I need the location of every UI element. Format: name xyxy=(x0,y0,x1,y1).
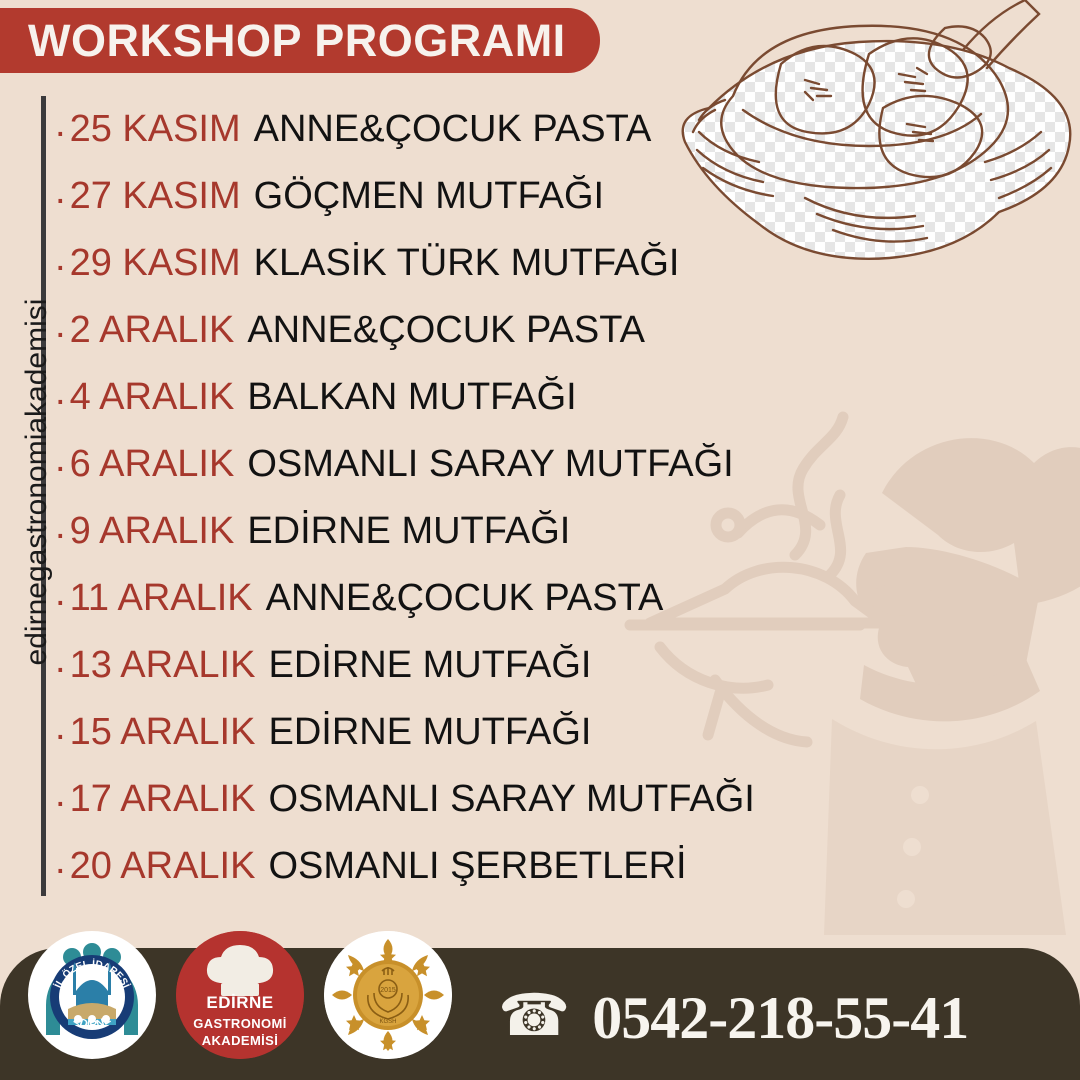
program-date: 11 ARALIK xyxy=(70,577,253,620)
bullet-dot: . xyxy=(55,708,66,746)
program-title: ANNE&ÇOCUK PASTA xyxy=(266,577,664,620)
svg-text:KGSH: KGSH xyxy=(379,1019,396,1025)
program-row: . 9 ARALIK EDİRNE MUTFAĞI xyxy=(55,498,875,565)
program-title: KLASİK TÜRK MUTFAĞI xyxy=(254,242,680,285)
bullet-dot: . xyxy=(55,641,66,679)
program-row: . 13 ARALIK EDİRNE MUTFAĞI xyxy=(55,632,875,699)
program-list: . 25 KASIM ANNE&ÇOCUK PASTA . 27 KASIM G… xyxy=(55,96,875,900)
program-date: 6 ARALIK xyxy=(70,443,235,486)
program-date: 27 KASIM xyxy=(70,175,241,218)
program-date: 29 KASIM xyxy=(70,242,241,285)
program-title: OSMANLI SARAY MUTFAĞI xyxy=(247,443,733,486)
program-date: 25 KASIM xyxy=(70,108,241,151)
program-date: 2 ARALIK xyxy=(70,309,235,352)
bullet-dot: . xyxy=(55,306,66,344)
bullet-dot: . xyxy=(55,574,66,612)
program-title: ANNE&ÇOCUK PASTA xyxy=(254,108,652,151)
account-handle: edirnegastronomiakademisi xyxy=(20,202,54,762)
bullet-dot: . xyxy=(55,440,66,478)
program-row: . 6 ARALIK OSMANLI SARAY MUTFAĞI xyxy=(55,431,875,498)
program-row: . 11 ARALIK ANNE&ÇOCUK PASTA xyxy=(55,565,875,632)
footer-logos: İL ÖZEL İDARESİ EDİRNE EDİRNE GASTRONOMİ… xyxy=(28,931,452,1059)
poster: WORKSHOP PROGRAMI edirnegastronomiakadem… xyxy=(0,0,1080,1080)
program-title: BALKAN MUTFAĞI xyxy=(247,376,576,419)
header-banner: WORKSHOP PROGRAMI xyxy=(0,8,600,73)
program-title: GÖÇMEN MUTFAĞI xyxy=(254,175,604,218)
program-row: . 17 ARALIK OSMANLI SARAY MUTFAĞI xyxy=(55,766,875,833)
bullet-dot: . xyxy=(55,373,66,411)
program-row: . 15 ARALIK EDİRNE MUTFAĞI xyxy=(55,699,875,766)
page-title: WORKSHOP PROGRAMI xyxy=(28,15,566,67)
logo-line-2: GASTRONOMİ xyxy=(176,1016,304,1031)
program-title: EDİRNE MUTFAĞI xyxy=(247,510,570,553)
program-title: OSMANLI ŞERBETLERİ xyxy=(268,845,686,888)
program-date: 20 ARALIK xyxy=(70,845,256,888)
logo-edirne-gastronomi-akademisi: EDİRNE GASTRONOMİ AKADEMİSİ xyxy=(176,931,304,1059)
program-date: 4 ARALIK xyxy=(70,376,235,419)
contact-phone[interactable]: ☎ 0542-218-55-41 xyxy=(498,984,968,1053)
program-row: . 25 KASIM ANNE&ÇOCUK PASTA xyxy=(55,96,875,163)
program-row: . 27 KASIM GÖÇMEN MUTFAĞI xyxy=(55,163,875,230)
program-row: . 4 ARALIK BALKAN MUTFAĞI xyxy=(55,364,875,431)
program-title: EDİRNE MUTFAĞI xyxy=(268,711,591,754)
logo-line-3: AKADEMİSİ xyxy=(176,1033,304,1048)
bullet-dot: . xyxy=(55,842,66,880)
program-date: 15 ARALIK xyxy=(70,711,256,754)
bullet-dot: . xyxy=(55,775,66,813)
program-title: EDİRNE MUTFAĞI xyxy=(268,644,591,687)
program-row: . 2 ARALIK ANNE&ÇOCUK PASTA xyxy=(55,297,875,364)
program-row: . 29 KASIM KLASİK TÜRK MUTFAĞI xyxy=(55,230,875,297)
bullet-dot: . xyxy=(55,172,66,210)
logo-line-1: EDİRNE xyxy=(176,993,304,1013)
telephone-icon: ☎ xyxy=(498,987,570,1045)
logo-gold-emblem: 2015 KGSH xyxy=(324,931,452,1059)
program-date: 9 ARALIK xyxy=(70,510,235,553)
bullet-dot: . xyxy=(55,105,66,143)
phone-number[interactable]: 0542-218-55-41 xyxy=(592,984,968,1053)
program-date: 13 ARALIK xyxy=(70,644,256,687)
bullet-dot: . xyxy=(55,507,66,545)
bullet-dot: . xyxy=(55,239,66,277)
logo-il-ozel-idaresi: İL ÖZEL İDARESİ EDİRNE xyxy=(28,931,156,1059)
program-title: ANNE&ÇOCUK PASTA xyxy=(247,309,645,352)
program-row: . 20 ARALIK OSMANLI ŞERBETLERİ xyxy=(55,833,875,900)
program-date: 17 ARALIK xyxy=(70,778,256,821)
program-title: OSMANLI SARAY MUTFAĞI xyxy=(268,778,754,821)
svg-text:2015: 2015 xyxy=(380,987,396,994)
